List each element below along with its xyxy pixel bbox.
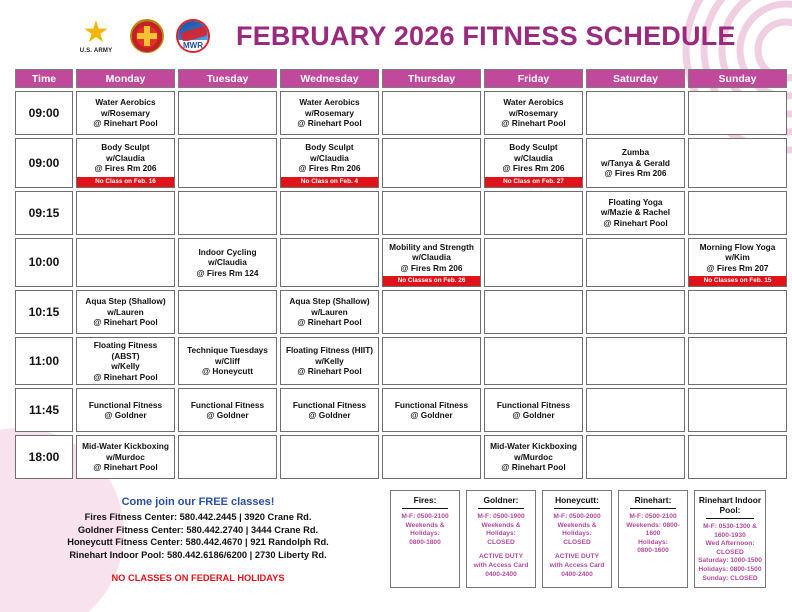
hours-divider: [630, 508, 676, 509]
contact-block: Come join our FREE classes! Fires Fitnes…: [12, 490, 384, 588]
empty-cell: [484, 337, 583, 385]
class-cell[interactable]: Functional Fitness@ Goldner: [76, 388, 175, 432]
facility-hours-group: Fires:M-F: 0500-2100Weekends & Holidays:…: [384, 490, 766, 588]
class-cell-inner: Zumbaw/Tanya & Gerald@ Fires Rm 206: [587, 139, 684, 187]
class-name: Body Sculpt: [79, 142, 172, 153]
column-header-saturday: Saturday: [586, 69, 685, 88]
class-name: Functional Fitness: [487, 400, 580, 411]
class-details: Floating Fitness (HIIT)w/Kelly@ Rinehart…: [281, 343, 378, 379]
hours-line: Saturday: 1000-1500: [698, 557, 762, 566]
class-details: Aqua Step (Shallow)w/Lauren@ Rinehart Po…: [281, 294, 378, 330]
class-location: @ Fires Rm 124: [181, 268, 274, 279]
page-header: ★ U.S. ARMY MWR FEBRUARY 2026 FITNESS SC…: [0, 0, 792, 66]
class-cell-inner: Mobility and Strengthw/Claudia@ Fires Rm…: [383, 239, 480, 287]
class-cell-inner: [587, 389, 684, 431]
hours-line: Wed Afternoon: CLOSED: [698, 540, 762, 557]
class-location: @ Rinehart Pool: [487, 118, 580, 129]
empty-cell: [688, 337, 787, 385]
time-cell: 10:15: [15, 290, 73, 334]
class-name: Aqua Step (Shallow): [283, 296, 376, 307]
class-cell-inner: Floating Yogaw/Mazie & Rachel@ Rinehart …: [587, 192, 684, 234]
empty-cell: [586, 388, 685, 432]
class-cell[interactable]: Body Sculptw/Claudia@ Fires Rm 206No Cla…: [484, 138, 583, 188]
class-location: @ Rinehart Pool: [79, 118, 172, 129]
class-cell-inner: [587, 291, 684, 333]
empty-cell: [76, 191, 175, 235]
empty-cell: [586, 435, 685, 479]
empty-cell: [586, 290, 685, 334]
class-cell-inner: [179, 192, 276, 234]
class-details: Body Sculptw/Claudia@ Fires Rm 206: [485, 139, 582, 176]
class-instructor: w/Cliff: [181, 356, 274, 367]
class-details: Water Aerobicsw/Rosemary@ Rinehart Pool: [281, 95, 378, 131]
class-cell-inner: Technique Tuesdaysw/Cliff@ Honeycutt: [179, 338, 276, 384]
schedule-row: 09:00Water Aerobicsw/Rosemary@ Rinehart …: [15, 91, 787, 135]
time-cell: 10:00: [15, 238, 73, 288]
hours-line: Weekends: 0800-1600: [622, 522, 684, 539]
class-name: Functional Fitness: [79, 400, 172, 411]
free-classes-heading: Come join our FREE classes!: [12, 496, 384, 508]
column-header-monday: Monday: [76, 69, 175, 88]
mwr-globe-icon: MWR: [176, 19, 210, 53]
class-name: Water Aerobics: [79, 97, 172, 108]
class-cell[interactable]: Zumbaw/Tanya & Gerald@ Fires Rm 206: [586, 138, 685, 188]
page-footer: Come join our FREE classes! Fires Fitnes…: [0, 482, 792, 588]
class-location: @ Rinehart Pool: [79, 317, 172, 328]
class-location: @ Fires Rm 206: [487, 163, 580, 174]
class-location: @ Rinehart Pool: [79, 372, 172, 383]
empty-cell: [280, 191, 379, 235]
class-instructor: w/Kelly: [283, 356, 376, 367]
column-header-sunday: Sunday: [688, 69, 787, 88]
class-location: @ Goldner: [283, 410, 376, 421]
hours-line: ACTIVE DUTY: [470, 553, 532, 562]
schedule-table: TimeMondayTuesdayWednesdayThursdayFriday…: [12, 66, 790, 482]
class-cell[interactable]: Technique Tuesdaysw/Cliff@ Honeycutt: [178, 337, 277, 385]
class-details: Aqua Step (Shallow)w/Lauren@ Rinehart Po…: [77, 294, 174, 330]
class-cell[interactable]: Water Aerobicsw/Rosemary@ Rinehart Pool: [484, 91, 583, 135]
class-cell-inner: Floating Fitness (HIIT)w/Kelly@ Rinehart…: [281, 338, 378, 384]
empty-cell: [178, 191, 277, 235]
class-name: Floating Yoga: [589, 197, 682, 208]
class-name: Zumba: [589, 147, 682, 158]
hours-divider: [554, 508, 600, 509]
class-cell[interactable]: Morning Flow Yogaw/Kim@ Fires Rm 207No C…: [688, 238, 787, 288]
hours-line: Weekends & Holidays:: [394, 522, 456, 539]
time-cell: 09:15: [15, 191, 73, 235]
hours-divider: [402, 508, 448, 509]
class-details: Water Aerobicsw/Rosemary@ Rinehart Pool: [77, 95, 174, 131]
class-details: Morning Flow Yogaw/Kim@ Fires Rm 207: [689, 239, 786, 276]
hours-line: Holidays: 0800-1500: [698, 566, 762, 575]
schedule-row: 09:00Body Sculptw/Claudia@ Fires Rm 206N…: [15, 138, 787, 188]
class-instructor: w/Claudia: [181, 257, 274, 268]
class-cell[interactable]: Functional Fitness@ Goldner: [280, 388, 379, 432]
schedule-row: 10:00Indoor Cyclingw/Claudia@ Fires Rm 1…: [15, 238, 787, 288]
class-cell-inner: [689, 192, 786, 234]
hours-line: CLOSED: [546, 539, 608, 548]
class-cell-inner: [587, 92, 684, 134]
class-name: Floating Fitness (HIIT): [283, 345, 376, 356]
contact-line: Goldner Fitness Center: 580.442.2740 | 3…: [12, 524, 384, 537]
class-cell-inner: Aqua Step (Shallow)w/Lauren@ Rinehart Po…: [77, 291, 174, 333]
class-location: @ Fires Rm 206: [589, 168, 682, 179]
hours-line: ACTIVE DUTY: [546, 553, 608, 562]
class-cell-inner: [383, 139, 480, 187]
empty-cell: [688, 191, 787, 235]
hours-line: M-F: 0530-1300 &: [698, 523, 762, 532]
class-name: Floating Fitness (ABST): [79, 340, 172, 361]
class-cell-inner: Functional Fitness@ Goldner: [485, 389, 582, 431]
class-details: Water Aerobicsw/Rosemary@ Rinehart Pool: [485, 95, 582, 131]
class-cell[interactable]: Water Aerobicsw/Rosemary@ Rinehart Pool: [280, 91, 379, 135]
hours-line: Weekends & Holidays:: [546, 522, 608, 539]
schedule-table-head: TimeMondayTuesdayWednesdayThursdayFriday…: [15, 69, 787, 88]
column-header-wednesday: Wednesday: [280, 69, 379, 88]
contact-line: Rinehart Indoor Pool: 580.442.6186/6200 …: [12, 549, 384, 562]
class-location: @ Fires Rm 207: [691, 263, 784, 274]
class-name: Body Sculpt: [487, 142, 580, 153]
schedule-header-row: TimeMondayTuesdayWednesdayThursdayFriday…: [15, 69, 787, 88]
class-details: Floating Yogaw/Mazie & Rachel@ Rinehart …: [587, 195, 684, 231]
class-name: Morning Flow Yoga: [691, 242, 784, 253]
class-cell-inner: Functional Fitness@ Goldner: [281, 389, 378, 431]
class-details: Indoor Cyclingw/Claudia@ Fires Rm 124: [179, 245, 276, 281]
class-location: @ Fires Rm 206: [79, 163, 172, 174]
class-name: Water Aerobics: [283, 97, 376, 108]
class-location: @ Goldner: [181, 410, 274, 421]
time-cell: 18:00: [15, 435, 73, 479]
class-cell-inner: Body Sculptw/Claudia@ Fires Rm 206No Cla…: [77, 139, 174, 187]
schedule-row: 09:15Floating Yogaw/Mazie & Rachel@ Rine…: [15, 191, 787, 235]
contact-lines: Fires Fitness Center: 580.442.2445 | 392…: [12, 511, 384, 561]
class-cell[interactable]: Mid-Water Kickboxingw/Murdoc@ Rinehart P…: [484, 435, 583, 479]
hours-box-title: Honeycutt:: [546, 495, 608, 505]
class-details: Mobility and Strengthw/Claudia@ Fires Rm…: [383, 239, 480, 276]
class-cell[interactable]: Floating Fitness (ABST)w/Kelly@ Rinehart…: [76, 337, 175, 385]
class-name: Mid-Water Kickboxing: [79, 441, 172, 452]
hours-line: Sunday: CLOSED: [698, 575, 762, 584]
class-instructor: w/Lauren: [79, 307, 172, 318]
empty-cell: [484, 290, 583, 334]
class-cell[interactable]: Functional Fitness@ Goldner: [484, 388, 583, 432]
class-cell-inner: [485, 338, 582, 384]
hours-box-title: Rinehart Indoor Pool:: [698, 495, 762, 515]
empty-cell: [178, 435, 277, 479]
hours-box: Goldner:M-F: 0500-1900Weekends & Holiday…: [466, 490, 536, 588]
class-cell-inner: Functional Fitness@ Goldner: [77, 389, 174, 431]
schedule-section: TimeMondayTuesdayWednesdayThursdayFriday…: [0, 66, 792, 482]
class-name: Functional Fitness: [181, 400, 274, 411]
schedule-row: 11:00Floating Fitness (ABST)w/Kelly@ Rin…: [15, 337, 787, 385]
class-instructor: w/Claudia: [283, 153, 376, 164]
no-class-banner: No Classes on Feb. 26: [383, 276, 480, 286]
empty-cell: [382, 91, 481, 135]
us-army-logo: ★ U.S. ARMY: [74, 19, 118, 54]
class-cell-inner: [179, 139, 276, 187]
class-cell[interactable]: Aqua Step (Shallow)w/Lauren@ Rinehart Po…: [280, 290, 379, 334]
class-cell-inner: Water Aerobicsw/Rosemary@ Rinehart Pool: [77, 92, 174, 134]
hours-line: with Access Card: [470, 562, 532, 571]
class-cell[interactable]: Indoor Cyclingw/Claudia@ Fires Rm 124: [178, 238, 277, 288]
class-details: Zumbaw/Tanya & Gerald@ Fires Rm 206: [587, 145, 684, 181]
class-cell-inner: [485, 291, 582, 333]
class-cell-inner: Body Sculptw/Claudia@ Fires Rm 206No Cla…: [281, 139, 378, 187]
class-cell-inner: Floating Fitness (ABST)w/Kelly@ Rinehart…: [77, 338, 174, 384]
class-instructor: w/Lauren: [283, 307, 376, 318]
hours-line: Holidays:: [622, 539, 684, 548]
class-details: Functional Fitness@ Goldner: [281, 398, 378, 423]
class-cell-inner: [383, 92, 480, 134]
class-location: @ Fires Rm 206: [283, 163, 376, 174]
class-cell-inner: [281, 436, 378, 478]
class-cell-inner: [689, 338, 786, 384]
empty-cell: [178, 138, 277, 188]
class-cell-inner: Body Sculptw/Claudia@ Fires Rm 206No Cla…: [485, 139, 582, 187]
hours-line: with Access Card: [546, 562, 608, 571]
schedule-row: 11:45Functional Fitness@ GoldnerFunction…: [15, 388, 787, 432]
column-header-thursday: Thursday: [382, 69, 481, 88]
class-cell-inner: [281, 239, 378, 287]
empty-cell: [688, 388, 787, 432]
class-location: @ Rinehart Pool: [487, 462, 580, 473]
no-class-banner: No Class on Feb. 4: [281, 177, 378, 187]
hours-box-title: Goldner:: [470, 495, 532, 505]
empty-cell: [76, 238, 175, 288]
hours-line: M-F: 0500-2100: [622, 513, 684, 522]
empty-cell: [586, 91, 685, 135]
class-name: Mid-Water Kickboxing: [487, 441, 580, 452]
class-name: Aqua Step (Shallow): [79, 296, 172, 307]
empty-cell: [382, 337, 481, 385]
hours-line: M-F: 0500-2000: [546, 513, 608, 522]
empty-cell: [586, 337, 685, 385]
class-name: Water Aerobics: [487, 97, 580, 108]
class-location: @ Goldner: [79, 410, 172, 421]
class-cell-inner: Water Aerobicsw/Rosemary@ Rinehart Pool: [281, 92, 378, 134]
column-header-tuesday: Tuesday: [178, 69, 277, 88]
empty-cell: [280, 435, 379, 479]
class-cell[interactable]: Body Sculptw/Claudia@ Fires Rm 206No Cla…: [280, 138, 379, 188]
class-cell[interactable]: Functional Fitness@ Goldner: [382, 388, 481, 432]
class-cell-inner: [179, 92, 276, 134]
empty-cell: [688, 290, 787, 334]
hours-box: Fires:M-F: 0500-2100Weekends & Holidays:…: [390, 490, 460, 588]
class-details: Mid-Water Kickboxingw/Murdoc@ Rinehart P…: [77, 439, 174, 475]
class-cell-inner: Functional Fitness@ Goldner: [383, 389, 480, 431]
schedule-table-body: 09:00Water Aerobicsw/Rosemary@ Rinehart …: [15, 91, 787, 479]
hours-line: 1600-1930: [698, 532, 762, 541]
column-header-time: Time: [15, 69, 73, 88]
hours-line: CLOSED: [470, 539, 532, 548]
class-instructor: w/Rosemary: [487, 108, 580, 119]
class-location: @ Fires Rm 206: [385, 263, 478, 274]
mwr-label: MWR: [178, 41, 208, 51]
class-name: Body Sculpt: [283, 142, 376, 153]
time-cell: 09:00: [15, 138, 73, 188]
page-title: FEBRUARY 2026 FITNESS SCHEDULE: [236, 21, 736, 52]
class-cell-inner: [587, 338, 684, 384]
class-cell-inner: [383, 192, 480, 234]
class-details: Functional Fitness@ Goldner: [383, 398, 480, 423]
class-location: @ Rinehart Pool: [283, 366, 376, 377]
empty-cell: [688, 435, 787, 479]
hours-line: 0800-1600: [622, 547, 684, 556]
empty-cell: [178, 290, 277, 334]
class-instructor: w/Claudia: [487, 153, 580, 164]
class-cell[interactable]: Aqua Step (Shallow)w/Lauren@ Rinehart Po…: [76, 290, 175, 334]
empty-cell: [484, 238, 583, 288]
class-instructor: w/Kim: [691, 252, 784, 263]
class-details: Body Sculptw/Claudia@ Fires Rm 206: [77, 139, 174, 176]
class-instructor: w/Tanya & Gerald: [589, 158, 682, 169]
class-location: @ Rinehart Pool: [283, 118, 376, 129]
class-cell-inner: [689, 436, 786, 478]
hours-divider: [706, 518, 754, 519]
class-name: Technique Tuesdays: [181, 345, 274, 356]
class-cell-inner: [383, 291, 480, 333]
class-details: Body Sculptw/Claudia@ Fires Rm 206: [281, 139, 378, 176]
empty-cell: [382, 191, 481, 235]
hours-box: Rinehart Indoor Pool:M-F: 0530-1300 &160…: [694, 490, 766, 588]
empty-cell: [688, 138, 787, 188]
class-cell-inner: Water Aerobicsw/Rosemary@ Rinehart Pool: [485, 92, 582, 134]
class-cell-inner: [689, 92, 786, 134]
empty-cell: [382, 290, 481, 334]
empty-cell: [484, 191, 583, 235]
hours-box-title: Fires:: [394, 495, 456, 505]
class-details: Functional Fitness@ Goldner: [179, 398, 276, 423]
class-cell-inner: Mid-Water Kickboxingw/Murdoc@ Rinehart P…: [77, 436, 174, 478]
empty-cell: [382, 435, 481, 479]
contact-line: Fires Fitness Center: 580.442.2445 | 392…: [12, 511, 384, 524]
no-class-banner: No Class on Feb. 27: [485, 177, 582, 187]
class-cell-inner: [485, 192, 582, 234]
class-cell-inner: [77, 192, 174, 234]
class-cell-inner: [383, 436, 480, 478]
class-cell-inner: [689, 139, 786, 187]
empty-cell: [178, 91, 277, 135]
class-cell-inner: [77, 239, 174, 287]
class-instructor: w/Kelly: [79, 361, 172, 372]
hours-divider: [478, 508, 524, 509]
empty-cell: [586, 238, 685, 288]
class-cell-inner: [179, 291, 276, 333]
class-name: Indoor Cycling: [181, 247, 274, 258]
class-location: @ Rinehart Pool: [283, 317, 376, 328]
class-cell-inner: [587, 239, 684, 287]
class-cell-inner: [179, 436, 276, 478]
class-details: Floating Fitness (ABST)w/Kelly@ Rinehart…: [77, 338, 174, 384]
class-instructor: w/Claudia: [385, 252, 478, 263]
class-cell-inner: Indoor Cyclingw/Claudia@ Fires Rm 124: [179, 239, 276, 287]
class-cell-inner: [281, 192, 378, 234]
class-cell[interactable]: Functional Fitness@ Goldner: [178, 388, 277, 432]
class-instructor: w/Rosemary: [79, 108, 172, 119]
army-star-icon: ★: [83, 19, 110, 47]
hours-line: M-F: 0500-1900: [470, 513, 532, 522]
class-instructor: w/Rosemary: [283, 108, 376, 119]
us-army-label: U.S. ARMY: [80, 48, 113, 54]
time-cell: 11:45: [15, 388, 73, 432]
class-cell-inner: [383, 338, 480, 384]
imcom-crest-icon: [130, 19, 164, 53]
class-instructor: w/Claudia: [79, 153, 172, 164]
federal-holidays-note: NO CLASSES ON FEDERAL HOLIDAYS: [12, 573, 384, 583]
class-cell[interactable]: Mobility and Strengthw/Claudia@ Fires Rm…: [382, 238, 481, 288]
fitness-schedule-page: ★ U.S. ARMY MWR FEBRUARY 2026 FITNESS SC…: [0, 0, 792, 612]
logo-group: ★ U.S. ARMY MWR: [74, 19, 210, 54]
empty-cell: [382, 138, 481, 188]
column-header-friday: Friday: [484, 69, 583, 88]
class-cell-inner: Mid-Water Kickboxingw/Murdoc@ Rinehart P…: [485, 436, 582, 478]
class-cell[interactable]: Water Aerobicsw/Rosemary@ Rinehart Pool: [76, 91, 175, 135]
time-cell: 09:00: [15, 91, 73, 135]
class-location: @ Rinehart Pool: [589, 218, 682, 229]
hours-line: Weekends & Holidays:: [470, 522, 532, 539]
class-cell-inner: Aqua Step (Shallow)w/Lauren@ Rinehart Po…: [281, 291, 378, 333]
class-location: @ Rinehart Pool: [79, 462, 172, 473]
class-name: Mobility and Strength: [385, 242, 478, 253]
class-details: Technique Tuesdaysw/Cliff@ Honeycutt: [179, 343, 276, 379]
class-name: Functional Fitness: [283, 400, 376, 411]
hours-box: Honeycutt:M-F: 0500-2000Weekends & Holid…: [542, 490, 612, 588]
class-instructor: w/Murdoc: [79, 452, 172, 463]
class-cell[interactable]: Floating Yogaw/Mazie & Rachel@ Rinehart …: [586, 191, 685, 235]
class-cell-inner: [689, 389, 786, 431]
class-cell[interactable]: Body Sculptw/Claudia@ Fires Rm 206No Cla…: [76, 138, 175, 188]
class-cell-inner: [485, 239, 582, 287]
hours-line: 0400-2400: [470, 571, 532, 580]
no-class-banner: No Classes on Feb. 15: [689, 276, 786, 286]
schedule-row: 10:15Aqua Step (Shallow)w/Lauren@ Rineha…: [15, 290, 787, 334]
class-instructor: w/Murdoc: [487, 452, 580, 463]
hours-box: Rinehart:M-F: 0500-2100Weekends: 0800-16…: [618, 490, 688, 588]
class-instructor: w/Mazie & Rachel: [589, 207, 682, 218]
class-location: @ Honeycutt: [181, 366, 274, 377]
imcom-cross-shape: [137, 26, 157, 46]
class-name: Functional Fitness: [385, 400, 478, 411]
hours-line: M-F: 0500-2100: [394, 513, 456, 522]
schedule-row: 18:00Mid-Water Kickboxingw/Murdoc@ Rineh…: [15, 435, 787, 479]
class-cell[interactable]: Mid-Water Kickboxingw/Murdoc@ Rinehart P…: [76, 435, 175, 479]
class-details: Functional Fitness@ Goldner: [77, 398, 174, 423]
class-details: Mid-Water Kickboxingw/Murdoc@ Rinehart P…: [485, 439, 582, 475]
class-cell-inner: [587, 436, 684, 478]
class-details: Functional Fitness@ Goldner: [485, 398, 582, 423]
empty-cell: [280, 238, 379, 288]
class-cell-inner: Morning Flow Yogaw/Kim@ Fires Rm 207No C…: [689, 239, 786, 287]
hours-box-title: Rinehart:: [622, 495, 684, 505]
class-cell-inner: Functional Fitness@ Goldner: [179, 389, 276, 431]
hours-line: 0800-1800: [394, 539, 456, 548]
empty-cell: [688, 91, 787, 135]
class-cell-inner: [689, 291, 786, 333]
hours-line: 0400-2400: [546, 571, 608, 580]
no-class-banner: No Class on Feb. 16: [77, 177, 174, 187]
contact-line: Honeycutt Fitness Center: 580.442.4670 |…: [12, 536, 384, 549]
class-location: @ Goldner: [487, 410, 580, 421]
class-location: @ Goldner: [385, 410, 478, 421]
time-cell: 11:00: [15, 337, 73, 385]
class-cell[interactable]: Floating Fitness (HIIT)w/Kelly@ Rinehart…: [280, 337, 379, 385]
